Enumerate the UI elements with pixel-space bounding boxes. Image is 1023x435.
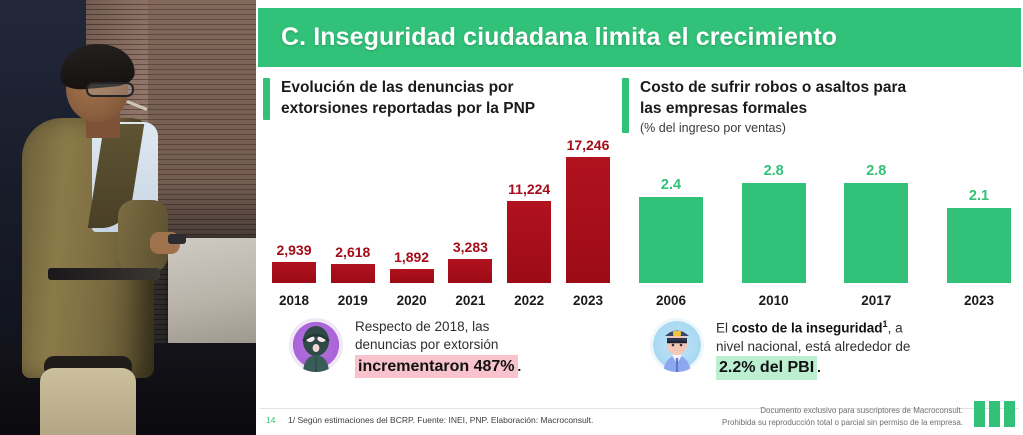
legal-line-1: Documento exclusivo para suscriptores de… [722,405,963,417]
accent-bar-left [263,78,270,120]
bar-value-label: 17,246 [567,137,610,153]
callout-right-line2: nivel nacional, está alrededor de [716,338,910,356]
panel-left-title-line1: Evolución de las denuncias por [281,78,535,99]
presenter-belt [48,268,160,280]
callout-left-highlight: incrementaron 487% [355,355,518,379]
callout-right-after: , a [888,321,903,336]
chart-denuncias-extorsion: 2,9392,6181,8923,28311,22417,246 2018201… [272,136,610,308]
panel-right-subtitle: (% del ingreso por ventas) [640,120,906,136]
bar-value-label: 2.1 [969,188,989,204]
bar-column: 11,224 [507,136,551,283]
bar [331,264,375,283]
panel-left-title-line2: extorsiones reportadas por la PNP [281,99,535,120]
callout-right-highlight: 2.2% del PBI [716,356,817,380]
presenter-clicker [168,234,186,244]
legal-line-2: Prohibida su reproducción total o parcia… [722,417,963,429]
bar [566,157,610,283]
bar-column: 2.8 [742,152,806,283]
x-axis-labels-left: 201820192020202120222023 [272,293,610,308]
callout-left-tail: . [518,359,522,374]
callout-left-line1: Respecto de 2018, las [355,318,521,336]
bar-value-label: 2.4 [661,177,681,193]
x-axis-tick-label: 2006 [639,293,703,308]
x-axis-tick-label: 2023 [947,293,1011,308]
x-axis-tick-label: 2017 [844,293,908,308]
panel-right-title-line2: las empresas formales [640,99,906,120]
bar-column: 17,246 [566,136,610,283]
bar-value-label: 2.8 [764,163,784,179]
bar-value-label: 2,939 [276,242,311,258]
bar [947,208,1011,283]
presenter-glasses [86,82,134,97]
bar [390,269,434,283]
x-axis-tick-label: 2021 [448,293,492,308]
source-note: 1/ Según estimaciones del BCRP. Fuente: … [288,415,593,425]
bar-column: 2.1 [947,152,1011,283]
slide-title: C. Inseguridad ciudadana limita el creci… [258,23,837,52]
bar [742,183,806,283]
bar-value-label: 11,224 [508,181,550,197]
bar-column: 2,939 [272,136,316,283]
macroconsult-logo [974,401,1015,427]
bar-column: 2.8 [844,152,908,283]
bar-value-label: 2,618 [335,244,370,260]
slide-title-band: C. Inseguridad ciudadana limita el creci… [258,8,1021,67]
bar [272,262,316,283]
page-number: 14 [266,415,275,425]
callout-left-line2: denuncias por extorsión [355,336,521,354]
bar [507,201,551,283]
legal-notice: Documento exclusivo para suscriptores de… [722,405,963,429]
stage-monitor [168,238,256,348]
bar-column: 2.4 [639,152,703,283]
presenter-video-feed [0,0,256,435]
thief-icon [289,318,343,372]
callout-left: Respecto de 2018, las denuncias por exto… [289,318,609,378]
bar-group-left: 2,9392,6181,8923,28311,22417,246 [272,136,610,283]
bar [639,197,703,283]
x-axis-labels-right: 2006201020172023 [639,293,1011,308]
bar-column: 1,892 [390,136,434,283]
screen: C. Inseguridad ciudadana limita el creci… [0,0,1023,435]
x-axis-tick-label: 2022 [507,293,551,308]
callout-right: El costo de la inseguridad1, a nivel nac… [650,318,1020,380]
bar-column: 2,618 [331,136,375,283]
callout-right-bold: costo de la inseguridad [732,321,883,336]
x-axis-tick-label: 2019 [331,293,375,308]
bar [844,183,908,283]
bar-column: 3,283 [448,136,492,283]
x-axis-tick-label: 2018 [272,293,316,308]
x-axis-tick-label: 2010 [742,293,806,308]
presenter-trousers [40,368,136,435]
bar-group-right: 2.42.82.82.1 [639,152,1011,283]
police-officer-icon [650,318,704,372]
bar-value-label: 2.8 [866,163,886,179]
accent-bar-right [622,78,629,133]
bar [448,259,492,283]
x-axis-tick-label: 2020 [390,293,434,308]
callout-right-tail: . [817,360,821,375]
panel-right: Costo de sufrir robos o asaltos para las… [622,78,1017,136]
panel-right-title-line1: Costo de sufrir robos o asaltos para [640,78,906,99]
bar-value-label: 1,892 [394,249,429,265]
bar-value-label: 3,283 [453,239,488,255]
chart-costo-robos: 2.42.82.82.1 2006201020172023 [639,152,1011,308]
x-axis-tick-label: 2023 [566,293,610,308]
callout-right-lead: El [716,321,732,336]
presentation-slide: C. Inseguridad ciudadana limita el creci… [256,0,1023,435]
panel-left: Evolución de las denuncias por extorsion… [263,78,615,120]
